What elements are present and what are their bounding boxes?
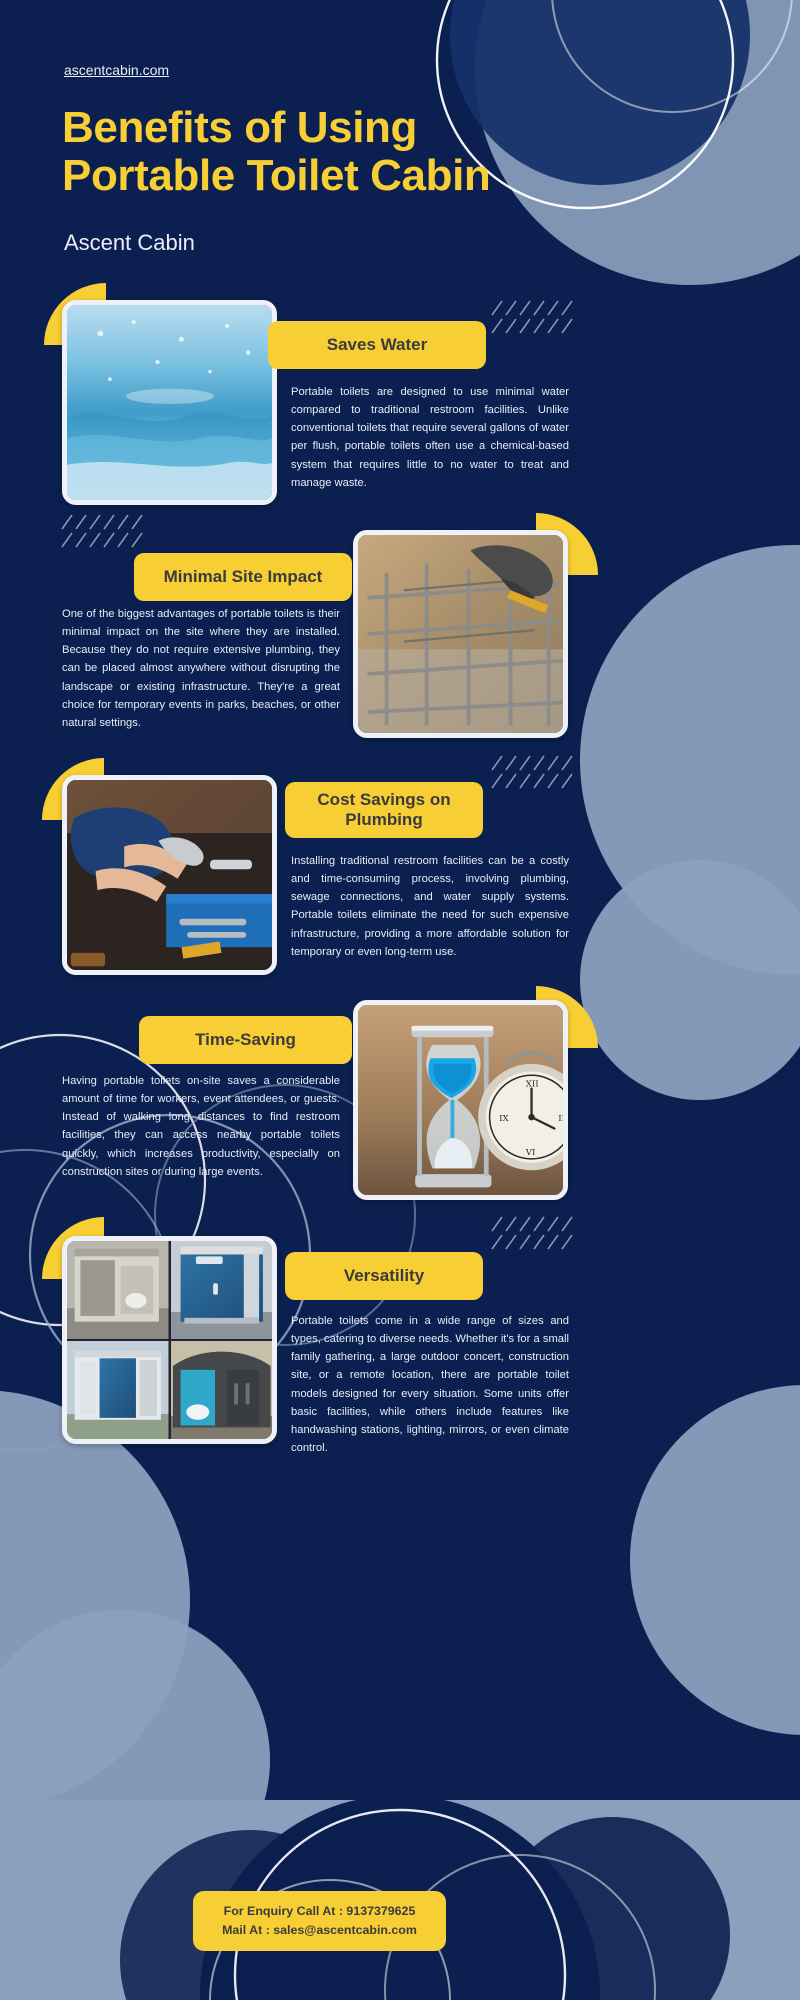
section-1-title-bar: Saves Water: [268, 321, 486, 369]
svg-text:XII: XII: [526, 1080, 539, 1090]
hatch-decoration-section-3: [488, 754, 580, 792]
section-4-title: Time-Saving: [195, 1030, 296, 1050]
section-5-title: Versatility: [344, 1266, 424, 1286]
svg-text:VI: VI: [525, 1148, 536, 1158]
site-url-link[interactable]: ascentcabin.com: [64, 62, 169, 78]
section-3-body: Installing traditional restroom faciliti…: [291, 852, 569, 961]
contact-footer-box[interactable]: For Enquiry Call At : 9137379625 Mail At…: [193, 1891, 446, 1951]
svg-text:IX: IX: [499, 1114, 509, 1124]
cabin-photo-4: [171, 1341, 273, 1439]
hatch-decoration-section-5: [488, 1215, 580, 1253]
cabin-photo-1: [67, 1241, 169, 1339]
section-5-title-bar: Versatility: [285, 1252, 483, 1300]
brand-subtitle: Ascent Cabin: [64, 230, 195, 256]
svg-text:III: III: [558, 1114, 563, 1124]
hatch-decoration-section-1: [488, 299, 580, 337]
section-5-body: Portable toilets come in a wide range of…: [291, 1312, 569, 1457]
section-1-title: Saves Water: [327, 335, 427, 355]
page-title-line-1: Benefits of Using: [62, 104, 602, 152]
cabin-photo-2: [171, 1241, 273, 1339]
section-2-body: One of the biggest advantages of portabl…: [62, 605, 340, 732]
cabin-photo-3: [67, 1341, 169, 1439]
section-5-image: [62, 1236, 277, 1444]
section-5-image-grid: [67, 1241, 272, 1439]
footer-phone-line: For Enquiry Call At : 9137379625: [224, 1902, 416, 1921]
section-4-image: XIIIII VIIX: [353, 1000, 568, 1200]
footer-email-line: Mail At : sales@ascentcabin.com: [222, 1921, 417, 1940]
section-1-image: [62, 300, 277, 505]
section-1-body: Portable toilets are designed to use min…: [291, 383, 569, 492]
page-title: Benefits of Using Portable Toilet Cabin: [62, 104, 602, 199]
page-title-line-2: Portable Toilet Cabin: [62, 152, 602, 200]
hatch-decoration-section-2: [58, 513, 150, 551]
section-4-body: Having portable toilets on-site saves a …: [62, 1072, 340, 1181]
section-3-title: Cost Savings on Plumbing: [297, 790, 471, 830]
section-2-image: [353, 530, 568, 738]
section-2-title-bar: Minimal Site Impact: [134, 553, 352, 601]
section-2-title: Minimal Site Impact: [164, 567, 323, 587]
section-3-image: [62, 775, 277, 975]
section-4-title-bar: Time-Saving: [139, 1016, 352, 1064]
section-3-title-bar: Cost Savings on Plumbing: [285, 782, 483, 838]
